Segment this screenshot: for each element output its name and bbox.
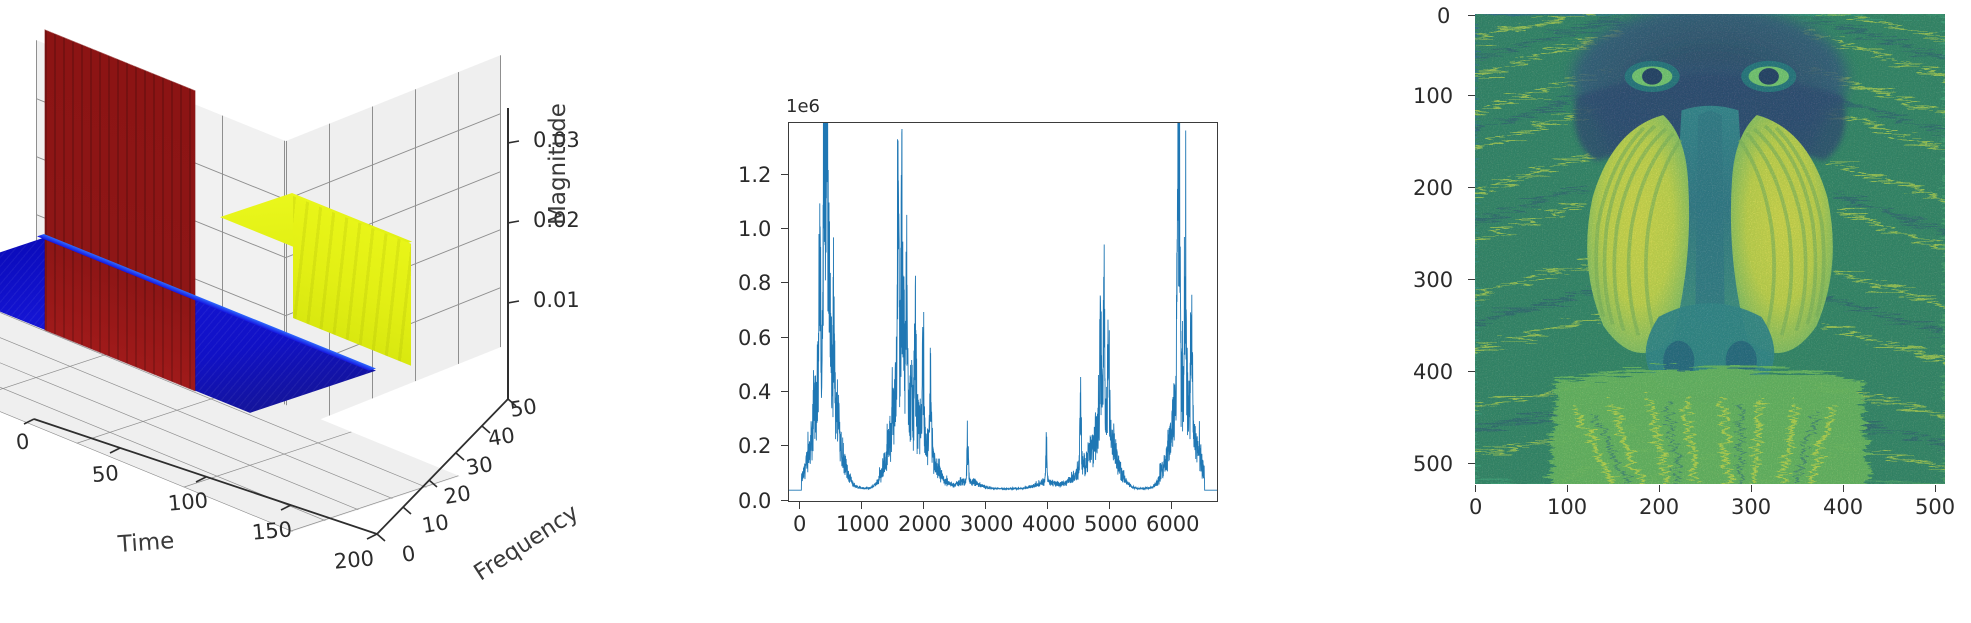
y3d-tick-2: 20 (442, 481, 472, 509)
x3-tick-5: 500 (1915, 495, 1955, 519)
x3-tick-1: 100 (1547, 495, 1587, 519)
x3-tick-3: 300 (1731, 495, 1771, 519)
y3d-tick-4: 40 (486, 423, 516, 451)
y3-tick-4: 400 (1413, 360, 1453, 384)
surface-red-wall (45, 30, 195, 391)
z3d-tick-0: 0.01 (533, 288, 580, 312)
x3-tick-2: 200 (1639, 495, 1679, 519)
x2-tick-3: 3000 (960, 512, 1013, 536)
x3d-tick-4: 200 (333, 546, 375, 573)
panel-surface-3d: 0 50 100 150 200 Time 0 10 20 30 40 50 F… (0, 0, 640, 623)
spectrum-plot (789, 123, 1217, 501)
mandrill-image (1475, 14, 1945, 484)
y3-tick-0: 0 (1437, 4, 1450, 28)
x3d-tick-3: 150 (251, 517, 293, 544)
x2-tick-1: 1000 (836, 512, 889, 536)
mandrill-raster (1475, 14, 1945, 484)
x2-tick-2: 2000 (898, 512, 951, 536)
y-offset-text: 1e6 (786, 96, 820, 117)
axes3d-scene: 0 50 100 150 200 Time 0 10 20 30 40 50 F… (0, 0, 640, 623)
y2-tick-5: 1.0 (738, 217, 771, 241)
x2-tick-0: 0 (793, 512, 806, 536)
x2-tick-5: 5000 (1084, 512, 1137, 536)
y3-tick-2: 200 (1413, 176, 1453, 200)
y3-tick-5: 500 (1413, 452, 1453, 476)
z3d-axis-label: Magnitude (545, 103, 571, 225)
x3-tick-0: 0 (1469, 495, 1482, 519)
y2-tick-3: 0.6 (738, 326, 771, 350)
y3d-tick-1: 10 (420, 510, 450, 538)
y3-tick-1: 100 (1413, 84, 1453, 108)
panel-spectrum-line: 1e6 0.0 0.2 0.4 0.6 0.8 1.0 1.2 0 (700, 0, 1340, 623)
y2-tick-2: 0.4 (738, 380, 771, 404)
spectrum-axes (788, 122, 1218, 502)
y3-tick-3: 300 (1413, 268, 1453, 292)
y3d-axis-label: Frequency (470, 500, 584, 587)
y3d-tick-0: 0 (400, 541, 417, 567)
panel-image-viridis: 0 100 200 300 400 500 (1395, 0, 1971, 623)
figure-canvas: 0 50 100 150 200 Time 0 10 20 30 40 50 F… (0, 0, 1971, 623)
y2-tick-0: 0.0 (738, 489, 771, 513)
y2-tick-6: 1.2 (738, 163, 771, 187)
y2-tick-4: 0.8 (738, 271, 771, 295)
x3d-tick-2: 100 (167, 488, 209, 515)
x2-tick-4: 4000 (1022, 512, 1075, 536)
x2-tick-6: 6000 (1146, 512, 1199, 536)
y2-tick-1: 0.2 (738, 434, 771, 458)
y3d-tick-3: 30 (464, 452, 494, 480)
y3d-tick-5: 50 (508, 394, 538, 422)
x3d-tick-0: 0 (15, 429, 30, 454)
x3d-tick-1: 50 (91, 461, 120, 487)
x3d-axis-label: Time (117, 528, 175, 558)
x3-tick-4: 400 (1823, 495, 1863, 519)
